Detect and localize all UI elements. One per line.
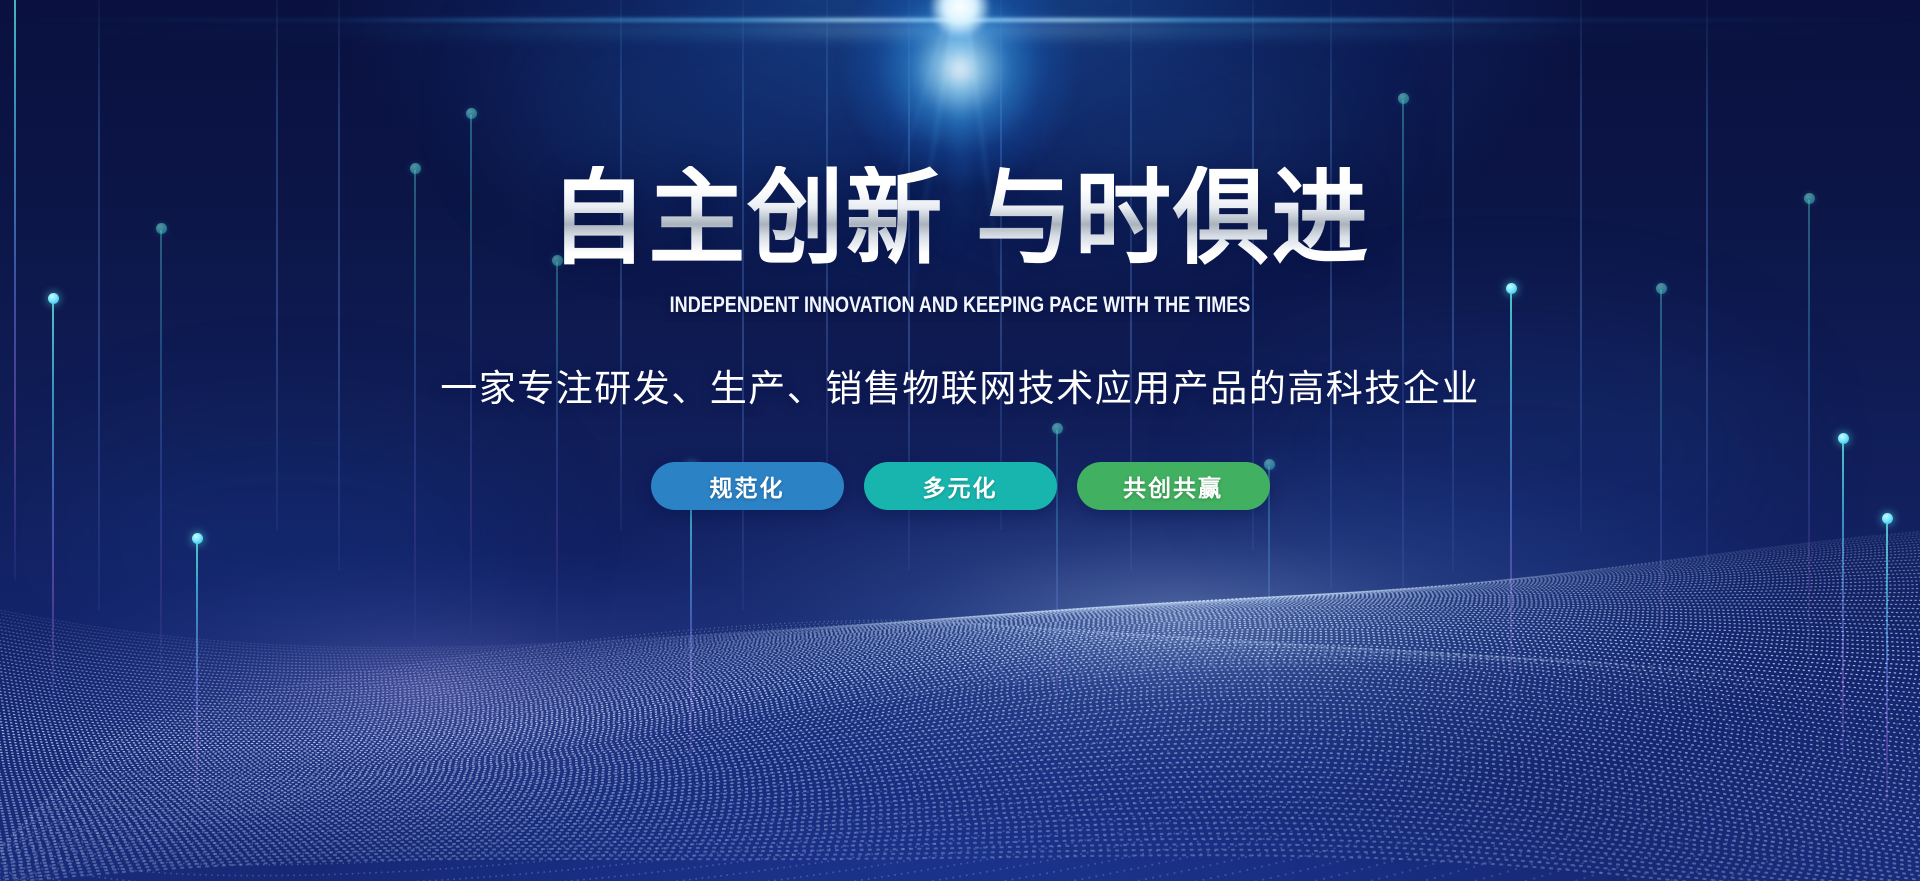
value-pill-label: 共创共赢 [1123, 469, 1223, 503]
value-pill-label: 规范化 [710, 469, 785, 503]
page-title: 自主创新与时俱进 [67, 166, 1853, 270]
value-pill-2[interactable]: 多元化 [864, 462, 1057, 510]
value-pill-label: 多元化 [923, 469, 998, 503]
company-tagline: 一家专注研发、生产、销售物联网技术应用产品的高科技企业 [0, 358, 1920, 412]
headline-part-1: 自主创新 [550, 157, 944, 279]
hero-banner: 自主创新与时俱进 INDEPENDENT INNOVATION AND KEEP… [0, 0, 1920, 881]
value-pill-group: 规范化多元化共创共赢 [0, 462, 1920, 510]
value-pill-3[interactable]: 共创共赢 [1077, 462, 1270, 510]
value-pill-1[interactable]: 规范化 [651, 462, 844, 510]
banner-content: 自主创新与时俱进 INDEPENDENT INNOVATION AND KEEP… [0, 0, 1920, 510]
subtitle-english: INDEPENDENT INNOVATION AND KEEPING PACE … [173, 292, 1747, 318]
headline-part-2: 与时俱进 [976, 157, 1370, 279]
